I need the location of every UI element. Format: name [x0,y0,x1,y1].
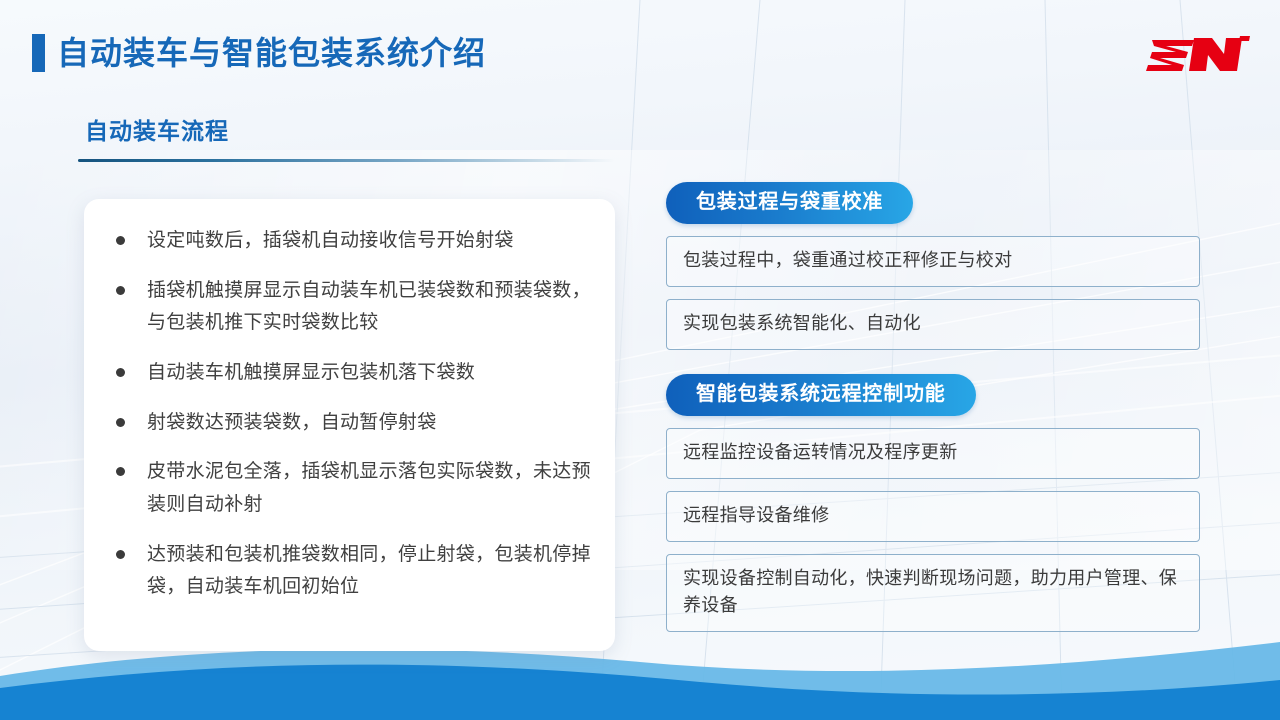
feature-group: 包装过程与袋重校准 包装过程中，袋重通过校正秤修正与校对 实现包装系统智能化、自… [666,182,1200,350]
left-column-header: 自动装车流程 [78,118,623,162]
bullet-icon [116,467,125,476]
list-item: 皮带水泥包全落，插袋机显示落包实际袋数，未达预装则自动补射 [110,456,597,521]
flow-step-list: 设定吨数后，插袋机自动接收信号开始射袋 插袋机触摸屏显示自动装车机已装袋数和预装… [110,225,597,604]
feature-item: 实现包装系统智能化、自动化 [666,299,1200,350]
bullet-icon [116,236,125,245]
title-accent-bar [32,34,45,72]
list-item: 达预装和包装机推袋数相同，停止射袋，包装机停掉袋，自动装车机回初始位 [110,539,597,604]
slide-header: 自动装车与智能包装系统介绍 [0,0,1280,100]
list-item: 射袋数达预装袋数，自动暂停射袋 [110,407,597,440]
bullet-icon [116,368,125,377]
page-title: 自动装车与智能包装系统介绍 [57,37,486,69]
feature-item: 远程监控设备运转情况及程序更新 [666,428,1200,479]
bullet-icon [116,286,125,295]
right-column: 包装过程与袋重校准 包装过程中，袋重通过校正秤修正与校对 实现包装系统智能化、自… [666,182,1200,632]
flow-step-text: 射袋数达预装袋数，自动暂停射袋 [147,407,437,440]
group-title-pill: 包装过程与袋重校准 [666,182,913,224]
slide: 自动装车与智能包装系统介绍 自动装车流程 设定吨数后，插袋机自动接收信号开始射袋 [0,0,1280,720]
section-heading: 自动装车流程 [78,118,623,146]
flow-step-text: 自动装车机触摸屏显示包装机落下袋数 [147,357,475,390]
flow-step-text: 设定吨数后，插袋机自动接收信号开始射袋 [147,225,514,258]
flow-step-text: 达预装和包装机推袋数相同，停止射袋，包装机停掉袋，自动装车机回初始位 [147,539,597,604]
section-divider [78,159,615,162]
flow-card: 设定吨数后，插袋机自动接收信号开始射袋 插袋机触摸屏显示自动装车机已装袋数和预装… [84,199,615,651]
feature-item: 远程指导设备维修 [666,491,1200,542]
group-title-pill: 智能包装系统远程控制功能 [666,374,976,416]
list-item: 插袋机触摸屏显示自动装车机已装袋数和预装袋数，与包装机推下实时袋数比较 [110,275,597,340]
bullet-icon [116,550,125,559]
title-row: 自动装车与智能包装系统介绍 [32,34,486,72]
list-item: 设定吨数后，插袋机自动接收信号开始射袋 [110,225,597,258]
feature-item: 实现设备控制自动化，快速判断现场问题，助力用户管理、保养设备 [666,554,1200,633]
list-item: 自动装车机触摸屏显示包装机落下袋数 [110,357,597,390]
feature-item: 包装过程中，袋重通过校正秤修正与校对 [666,236,1200,287]
bullet-icon [116,418,125,427]
flow-step-text: 皮带水泥包全落，插袋机显示落包实际袋数，未达预装则自动补射 [147,456,597,521]
flow-step-text: 插袋机触摸屏显示自动装车机已装袋数和预装袋数，与包装机推下实时袋数比较 [147,275,597,340]
company-logo [1142,30,1252,74]
feature-group: 智能包装系统远程控制功能 远程监控设备运转情况及程序更新 远程指导设备维修 实现… [666,374,1200,633]
